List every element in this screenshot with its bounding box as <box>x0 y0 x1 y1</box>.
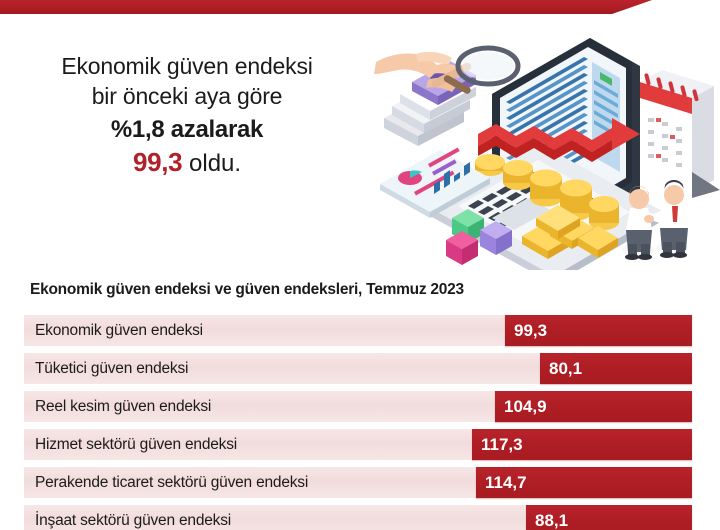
bar-fill: 80,1 <box>540 353 692 384</box>
bar-label: Reel kesim güven endeksi <box>35 398 211 416</box>
bar-fill: 88,1 <box>526 505 692 530</box>
bar-fill: 114,7 <box>476 467 692 498</box>
infographic-page: Ekonomik güven endeksi bir önceki aya gö… <box>0 0 720 530</box>
chart-title: Ekonomik güven endeksi ve güven endeksle… <box>30 281 464 299</box>
bar-fill: 117,3 <box>472 429 692 460</box>
headline-value-line: 99,3 oldu. <box>22 146 352 180</box>
confidence-index-bar-chart: 99,3 Ekonomik güven endeksi 80,1 Tüketic… <box>24 315 692 530</box>
chart-row: 99,3 Ekonomik güven endeksi <box>24 315 692 346</box>
headline-change: %1,8 azalarak <box>22 114 352 145</box>
bar-fill: 104,9 <box>495 391 692 422</box>
isometric-business-analytics-illustration <box>372 22 720 270</box>
bar-label: Hizmet sektörü güven endeksi <box>35 436 237 454</box>
bar-fill: 99,3 <box>505 315 692 346</box>
headline-line-1: Ekonomik güven endeksi <box>22 52 352 82</box>
chart-row: 104,9 Reel kesim güven endeksi <box>24 391 692 422</box>
chart-row: 114,7 Perakende ticaret sektörü güven en… <box>24 467 692 498</box>
bar-label: Ekonomik güven endeksi <box>35 322 203 340</box>
bar-label: İnşaat sektörü güven endeksi <box>35 512 231 530</box>
headline-block: Ekonomik güven endeksi bir önceki aya gö… <box>22 52 352 180</box>
bar-value: 114,7 <box>485 473 527 493</box>
bar-label: Perakende ticaret sektörü güven endeksi <box>35 474 308 492</box>
bar-value: 104,9 <box>504 397 547 417</box>
wall-calendar-icon <box>640 70 720 198</box>
chart-row: 117,3 Hizmet sektörü güven endeksi <box>24 429 692 460</box>
headline-line-2: bir önceki aya göre <box>22 82 352 112</box>
bar-value: 88,1 <box>535 511 568 530</box>
headline-value-suffix: oldu. <box>182 150 241 177</box>
bar-label: Tüketici güven endeksi <box>35 360 188 378</box>
bar-value: 99,3 <box>514 321 547 341</box>
bar-value: 117,3 <box>481 435 523 455</box>
chart-row: 80,1 Tüketici güven endeksi <box>24 353 692 384</box>
top-red-banner <box>0 0 720 16</box>
chart-row: 88,1 İnşaat sektörü güven endeksi <box>24 505 692 530</box>
bar-value: 80,1 <box>549 359 582 379</box>
headline-value: 99,3 <box>133 147 182 177</box>
